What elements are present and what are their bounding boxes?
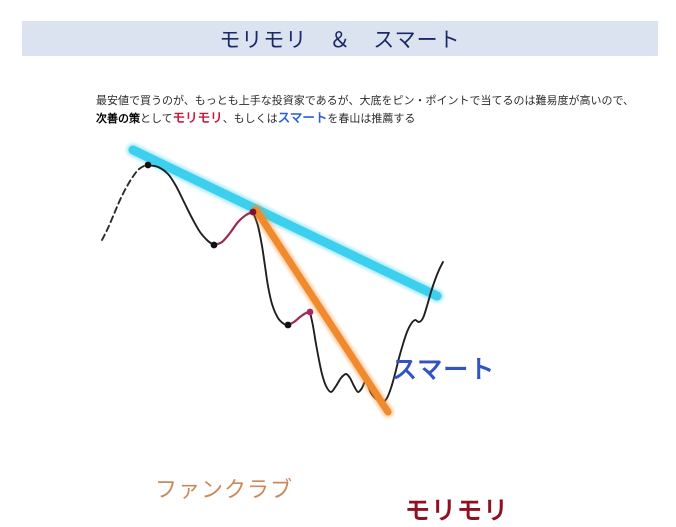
price-chart (0, 130, 676, 428)
chart-label-fanclub: ファンクラブ (155, 472, 293, 504)
smart-trendline (133, 150, 437, 296)
price-series-price-dashed-early (102, 165, 148, 240)
lede-line-1: 最安値で買うのが、もっとも上手な投資家であるが、大底をピン・ポイントで当てるのは… (96, 92, 616, 109)
pivot-marker-trough-2 (285, 322, 292, 329)
lede-emphasis-jizen: 次善の策 (96, 112, 140, 125)
pivot-marker-peak-1 (145, 162, 152, 169)
pivot-marker-peak-2 (250, 209, 257, 216)
lede-emphasis-morimori: モリモリ (173, 110, 223, 125)
title-band: モリモリ ＆ スマート (22, 21, 658, 56)
lede-emphasis-smart: スマート (278, 110, 328, 125)
lede-line2-text-a: として (140, 112, 173, 125)
page-title: モリモリ ＆ スマート (219, 24, 460, 54)
lede-line1-text: 最安値で買うのが、もっとも上手な投資家であるが、大底をピン・ポイントで当てるのは… (96, 94, 634, 107)
smart-trendline-core (133, 150, 437, 296)
lede-line2-text-c: を春山は推薦する (327, 112, 415, 125)
chart-label-morimori: モリモリ (405, 491, 509, 527)
price-series-downtrend-segment-b (288, 312, 310, 325)
pivot-marker-peak-3 (307, 309, 314, 316)
pivot-marker-group (145, 162, 314, 329)
chart-label-smart: スマート (392, 350, 495, 386)
lede-paragraph: 最安値で買うのが、もっとも上手な投資家であるが、大底をピン・ポイントで当てるのは… (96, 92, 616, 127)
lede-line-2: 次善の策としてモリモリ、もしくはスマートを春山は推薦する (96, 109, 616, 127)
lede-line2-text-b: 、もしくは (223, 112, 278, 125)
pivot-marker-trough-1 (211, 242, 218, 249)
price-series-downtrend-segment-a (214, 212, 253, 245)
chart-stage: スマート モリモリ ファンクラブ (0, 130, 676, 428)
